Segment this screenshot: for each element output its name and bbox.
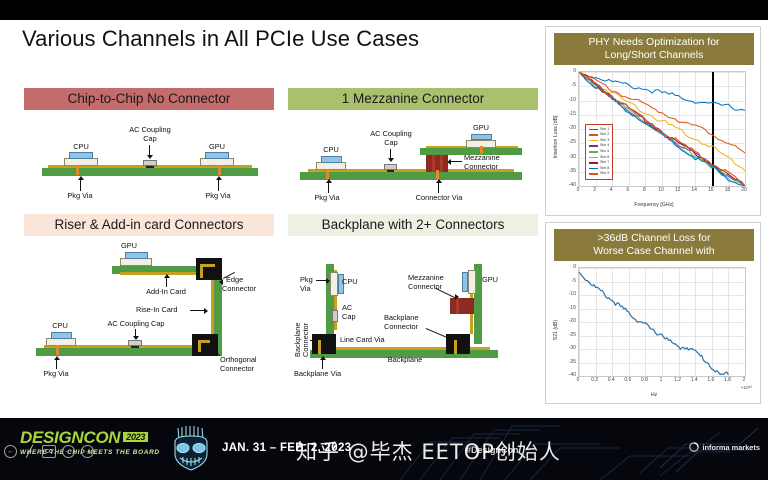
legend-swatch bbox=[589, 173, 598, 175]
diagram-panel-grid: Chip-to-Chip No Connector CPU GPU AC Cou… bbox=[18, 88, 540, 398]
page-title: Various Channels in All PCIe Use Cases bbox=[22, 26, 542, 52]
x-tick-label: 0.2 bbox=[591, 377, 598, 383]
label-mezzanine-connector-line2: Connector bbox=[464, 163, 498, 172]
y-axis-label: Insertion Loss [dB] bbox=[553, 116, 559, 159]
panel-one-mezzanine: 1 Mezzanine Connector bbox=[288, 88, 538, 206]
x-tick-label: 10 bbox=[658, 187, 664, 193]
diagram-riser-addin: CPU GPU Add-In Card Edge Connector Rise-… bbox=[24, 236, 274, 386]
label-rise-in-card: Rise-In Card bbox=[136, 306, 177, 315]
panel-header-riser-addin: Riser & Add-in card Connectors bbox=[24, 214, 274, 236]
x-tick-label: 1.8 bbox=[724, 377, 731, 383]
label-backplane-connector-line2: Connector bbox=[384, 323, 418, 332]
x-tick-label: 1.6 bbox=[707, 377, 714, 383]
y-tick-label: -30 bbox=[556, 154, 576, 160]
y-tick-label: -35 bbox=[556, 168, 576, 174]
legend-swatch bbox=[589, 134, 598, 136]
y-tick-label: -35 bbox=[556, 359, 576, 365]
label-mezzanine-connector-line2: Connector bbox=[408, 283, 442, 292]
label-gpu: GPU bbox=[112, 242, 146, 251]
x-axis-label: Frequency [GHz] bbox=[554, 202, 754, 208]
label-orthogonal-connector-line2: Connector bbox=[220, 365, 254, 374]
designcon-year-badge: 2023 bbox=[123, 432, 148, 442]
slide-footer: DESIGNCON2023 WHERE THE CHIP MEETS THE B… bbox=[0, 418, 768, 480]
chart-banner-line1: PHY Needs Optimization for bbox=[556, 36, 752, 49]
chart-banner-phy-optimization: PHY Needs Optimization for Long/Short Ch… bbox=[554, 33, 754, 65]
diagram-one-mezzanine: CPU GPU AC Coupling Cap Mezzanine Connec… bbox=[288, 110, 538, 206]
label-connector-via: Connector Via bbox=[404, 194, 474, 203]
diagram-chip-to-chip: CPU GPU AC Coupling Cap Pkg Via Pkg Via bbox=[24, 110, 274, 206]
y-tick-label: -10 bbox=[556, 97, 576, 103]
x-tick-label: 2 bbox=[593, 187, 596, 193]
y-tick-label: 0 bbox=[556, 68, 576, 74]
label-ac-coupling-cap-line2: Cap bbox=[360, 139, 422, 148]
x-tick-label: 0 bbox=[577, 187, 580, 193]
y-tick-label: -40 bbox=[556, 182, 576, 188]
x-tick-label: 2 bbox=[743, 377, 746, 383]
panel-header-one-mezzanine: 1 Mezzanine Connector bbox=[288, 88, 538, 110]
informa-markets-logo: informa markets bbox=[689, 442, 760, 452]
pencil-icon[interactable]: ╱ bbox=[23, 445, 36, 458]
chart-banner-line2: Long/Short Channels bbox=[556, 49, 752, 62]
grid-line-vertical bbox=[745, 72, 746, 186]
chart-series-layer bbox=[579, 268, 745, 376]
y-tick-label: 0 bbox=[556, 264, 576, 270]
x-axis-multiplier: ×10¹⁰ bbox=[741, 385, 752, 391]
chart-banner-channel-loss: >36dB Channel Loss for Worse Case Channe… bbox=[554, 229, 754, 261]
legend-swatch bbox=[589, 129, 598, 131]
legend-swatch bbox=[589, 140, 598, 142]
y-tick-label: -5 bbox=[556, 278, 576, 284]
x-tick-label: 1 bbox=[660, 377, 663, 383]
more-options-icon[interactable]: ⋯ bbox=[62, 445, 75, 458]
forward-arrow-icon[interactable]: → bbox=[81, 445, 94, 458]
x-tick-label: 20 bbox=[741, 187, 747, 193]
x-tick-label: 14 bbox=[691, 187, 697, 193]
x-tick-label: 0.4 bbox=[608, 377, 615, 383]
y-tick-label: -20 bbox=[556, 125, 576, 131]
panel-header-chip-to-chip: Chip-to-Chip No Connector bbox=[24, 88, 274, 110]
plot-insertion-loss: Insertion Loss [dB] Frequency [GHz] Sim … bbox=[554, 65, 754, 209]
label-pkg-via-right: Pkg Via bbox=[194, 192, 242, 201]
x-tick-label: 6 bbox=[626, 187, 629, 193]
y-tick-label: -10 bbox=[556, 291, 576, 297]
plot-area-insertion-loss: Sim 1Sim 2Sim 3Sim 4Sim 5Sim 6Sim 7Sim 8… bbox=[578, 71, 746, 187]
label-ac-cap-line2: Cap bbox=[342, 313, 356, 322]
label-pkg-via-left: Pkg Via bbox=[56, 192, 104, 201]
panel-backplane: Backplane with 2+ Connectors bbox=[288, 214, 538, 386]
y-tick-label: -20 bbox=[556, 318, 576, 324]
label-add-in-card: Add-In Card bbox=[132, 288, 200, 297]
label-gpu: GPU bbox=[200, 143, 234, 152]
video-player-controls[interactable]: ← ╱ CC ⋯ → bbox=[4, 445, 94, 458]
plot-area-s21 bbox=[578, 267, 746, 377]
y-tick-label: -15 bbox=[556, 305, 576, 311]
x-tick-label: 18 bbox=[725, 187, 731, 193]
x-axis-label: Hz bbox=[554, 392, 754, 398]
label-gpu: GPU bbox=[482, 276, 498, 285]
diagram-backplane: CPU GPU Pkg Via AC Cap Backplane Connect… bbox=[288, 236, 538, 386]
x-tick-label: 0 bbox=[577, 377, 580, 383]
y-tick-label: -25 bbox=[556, 139, 576, 145]
label-line-card-via: Line Card Via bbox=[340, 336, 385, 345]
panel-riser-addin: Riser & Add-in card Connectors bbox=[24, 214, 274, 386]
chart-banner-line1: >36dB Channel Loss for bbox=[556, 232, 752, 245]
back-arrow-icon[interactable]: ← bbox=[4, 445, 17, 458]
legend-swatch bbox=[589, 157, 598, 159]
y-tick-label: -15 bbox=[556, 111, 576, 117]
x-tick-label: 1.4 bbox=[691, 377, 698, 383]
label-backplane-via: Backplane Via bbox=[294, 370, 341, 379]
x-tick-label: 1.2 bbox=[674, 377, 681, 383]
label-cpu: CPU bbox=[64, 143, 98, 152]
label-cpu: CPU bbox=[42, 322, 78, 331]
y-tick-label: -30 bbox=[556, 345, 576, 351]
x-tick-label: 12 bbox=[675, 187, 681, 193]
legend-swatch bbox=[589, 162, 598, 164]
label-pkg-via-line2: Via bbox=[300, 285, 311, 294]
y-tick-label: -25 bbox=[556, 332, 576, 338]
top-letterbox-bar bbox=[0, 0, 768, 20]
y-tick-label: -40 bbox=[556, 372, 576, 378]
closed-caption-icon[interactable]: CC bbox=[42, 445, 56, 458]
chart-card-s21: >36dB Channel Loss for Worse Case Channe… bbox=[545, 222, 761, 404]
legend-swatch bbox=[589, 168, 598, 170]
x-tick-label: 0.8 bbox=[641, 377, 648, 383]
x-tick-label: 0.6 bbox=[624, 377, 631, 383]
panel-header-backplane: Backplane with 2+ Connectors bbox=[288, 214, 538, 236]
informa-markets-text: informa markets bbox=[702, 443, 760, 452]
legend-item: Sim 9 bbox=[589, 171, 609, 177]
label-cpu: CPU bbox=[314, 146, 348, 155]
chart-card-insertion-loss: PHY Needs Optimization for Long/Short Ch… bbox=[545, 26, 761, 216]
x-tick-label: 16 bbox=[708, 187, 714, 193]
label-edge-connector-line2: Connector bbox=[222, 285, 256, 294]
label-ac-coupling-cap-line2: Cap bbox=[120, 135, 180, 144]
panel-chip-to-chip: Chip-to-Chip No Connector CPU GPU AC Cou… bbox=[24, 88, 274, 206]
label-pkg-via: Pkg Via bbox=[304, 194, 350, 203]
legend-swatch bbox=[589, 151, 598, 153]
label-cpu: CPU bbox=[342, 278, 358, 287]
label-ac-coupling-cap: AC Coupling Cap bbox=[96, 320, 176, 329]
legend-swatch bbox=[589, 145, 598, 147]
legend-label: Sim 9 bbox=[600, 171, 609, 177]
label-backplane: Backplane bbox=[370, 356, 440, 365]
y-tick-label: -5 bbox=[556, 82, 576, 88]
series-line bbox=[579, 272, 728, 375]
grid-line-vertical bbox=[745, 268, 746, 376]
chart-banner-line2: Worse Case Channel with bbox=[556, 245, 752, 258]
charts-column: PHY Needs Optimization for Long/Short Ch… bbox=[545, 26, 761, 408]
x-tick-label: 8 bbox=[643, 187, 646, 193]
informa-swirl-icon bbox=[689, 442, 699, 452]
skull-mascot-icon bbox=[168, 424, 214, 474]
x-tick-label: 4 bbox=[610, 187, 613, 193]
plot-s21: S21 (dB) Hz ×10¹⁰ 00.20.40.60.811.21.41.… bbox=[554, 261, 754, 399]
zhihu-watermark: 知乎 @毕杰 EETOP创始人 bbox=[296, 436, 561, 466]
chart-legend: Sim 1Sim 2Sim 3Sim 4Sim 5Sim 6Sim 7Sim 8… bbox=[585, 124, 613, 180]
label-gpu: GPU bbox=[464, 124, 498, 133]
slide-canvas: Various Channels in All PCIe Use Cases C… bbox=[0, 0, 768, 480]
label-pkg-via: Pkg Via bbox=[32, 370, 80, 379]
